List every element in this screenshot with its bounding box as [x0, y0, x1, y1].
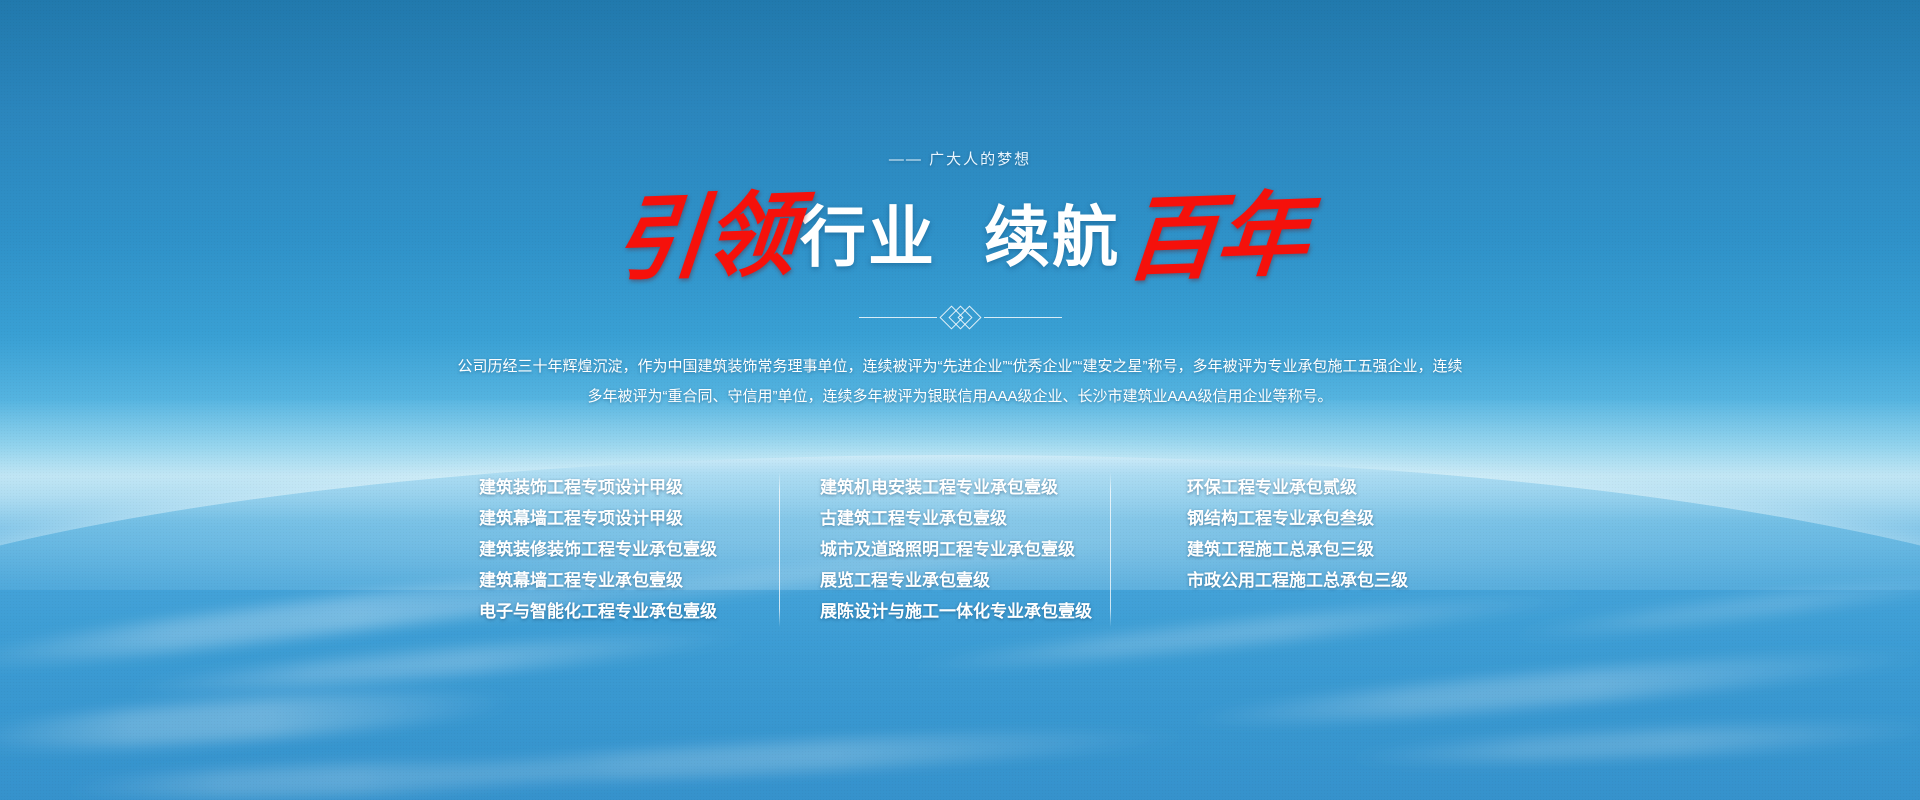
headline-solid-endurance: 续航: [980, 204, 1124, 270]
eyebrow-tagline: —— 广大人的梦想: [889, 148, 1031, 169]
qualification-item: 建筑机电安装工程专业承包壹级: [820, 472, 1110, 503]
qualifications-list: 建筑装饰工程专项设计甲级 建筑幕墙工程专项设计甲级 建筑装修装饰工程专业承包壹级…: [479, 472, 1441, 627]
hero-banner: —— 广大人的梦想 引领 行业 续航 百年 公司历经三十年辉煌沉淀，作为中国建筑…: [0, 0, 1920, 800]
qualification-item: 建筑装饰工程专项设计甲级: [479, 472, 755, 503]
qualification-item: 展陈设计与施工一体化专业承包壹级: [820, 596, 1110, 627]
divider-line-right: [984, 317, 1062, 318]
qualification-item: 钢结构工程专业承包叁级: [1187, 503, 1441, 534]
qualification-item: 古建筑工程专业承包壹级: [820, 503, 1110, 534]
description-line-2: 多年被评为“重合同、守信用”单位，连续多年被评为银联信用AAA级企业、长沙市建筑…: [400, 382, 1520, 412]
diamond-divider-icon: [859, 309, 1062, 326]
headline-brush-century: 百年: [1120, 188, 1313, 286]
headline-brush-leading: 引领: [608, 188, 801, 286]
divider-line-left: [859, 317, 937, 318]
banner-content: —— 广大人的梦想 引领 行业 续航 百年 公司历经三十年辉煌沉淀，作为中国建筑…: [0, 0, 1920, 800]
divider-gems: [947, 309, 974, 326]
description-line-1: 公司历经三十年辉煌沉淀，作为中国建筑装饰常务理事单位，连续被评为“先进企业”“优…: [400, 352, 1520, 382]
qualification-item: 建筑工程施工总承包三级: [1187, 534, 1441, 565]
qualification-item: 电子与智能化工程专业承包壹级: [479, 596, 755, 627]
headline: 引领 行业 续航 百年: [612, 191, 1308, 283]
qualifications-column-2: 建筑机电安装工程专业承包壹级 古建筑工程专业承包壹级 城市及道路照明工程专业承包…: [780, 472, 1110, 627]
qualifications-column-1: 建筑装饰工程专项设计甲级 建筑幕墙工程专项设计甲级 建筑装修装饰工程专业承包壹级…: [479, 472, 779, 627]
qualification-item: 市政公用工程施工总承包三级: [1187, 565, 1441, 596]
qualification-item: 环保工程专业承包贰级: [1187, 472, 1441, 503]
qualification-item: 建筑幕墙工程专业承包壹级: [479, 565, 755, 596]
company-description: 公司历经三十年辉煌沉淀，作为中国建筑装饰常务理事单位，连续被评为“先进企业”“优…: [400, 352, 1520, 412]
qualification-item: 建筑幕墙工程专项设计甲级: [479, 503, 755, 534]
qualification-item: 建筑装修装饰工程专业承包壹级: [479, 534, 755, 565]
qualifications-column-3: 环保工程专业承包贰级 钢结构工程专业承包叁级 建筑工程施工总承包三级 市政公用工…: [1111, 472, 1441, 596]
qualification-item: 城市及道路照明工程专业承包壹级: [820, 534, 1110, 565]
headline-solid-industry: 行业: [796, 204, 940, 270]
qualification-item: 展览工程专业承包壹级: [820, 565, 1110, 596]
